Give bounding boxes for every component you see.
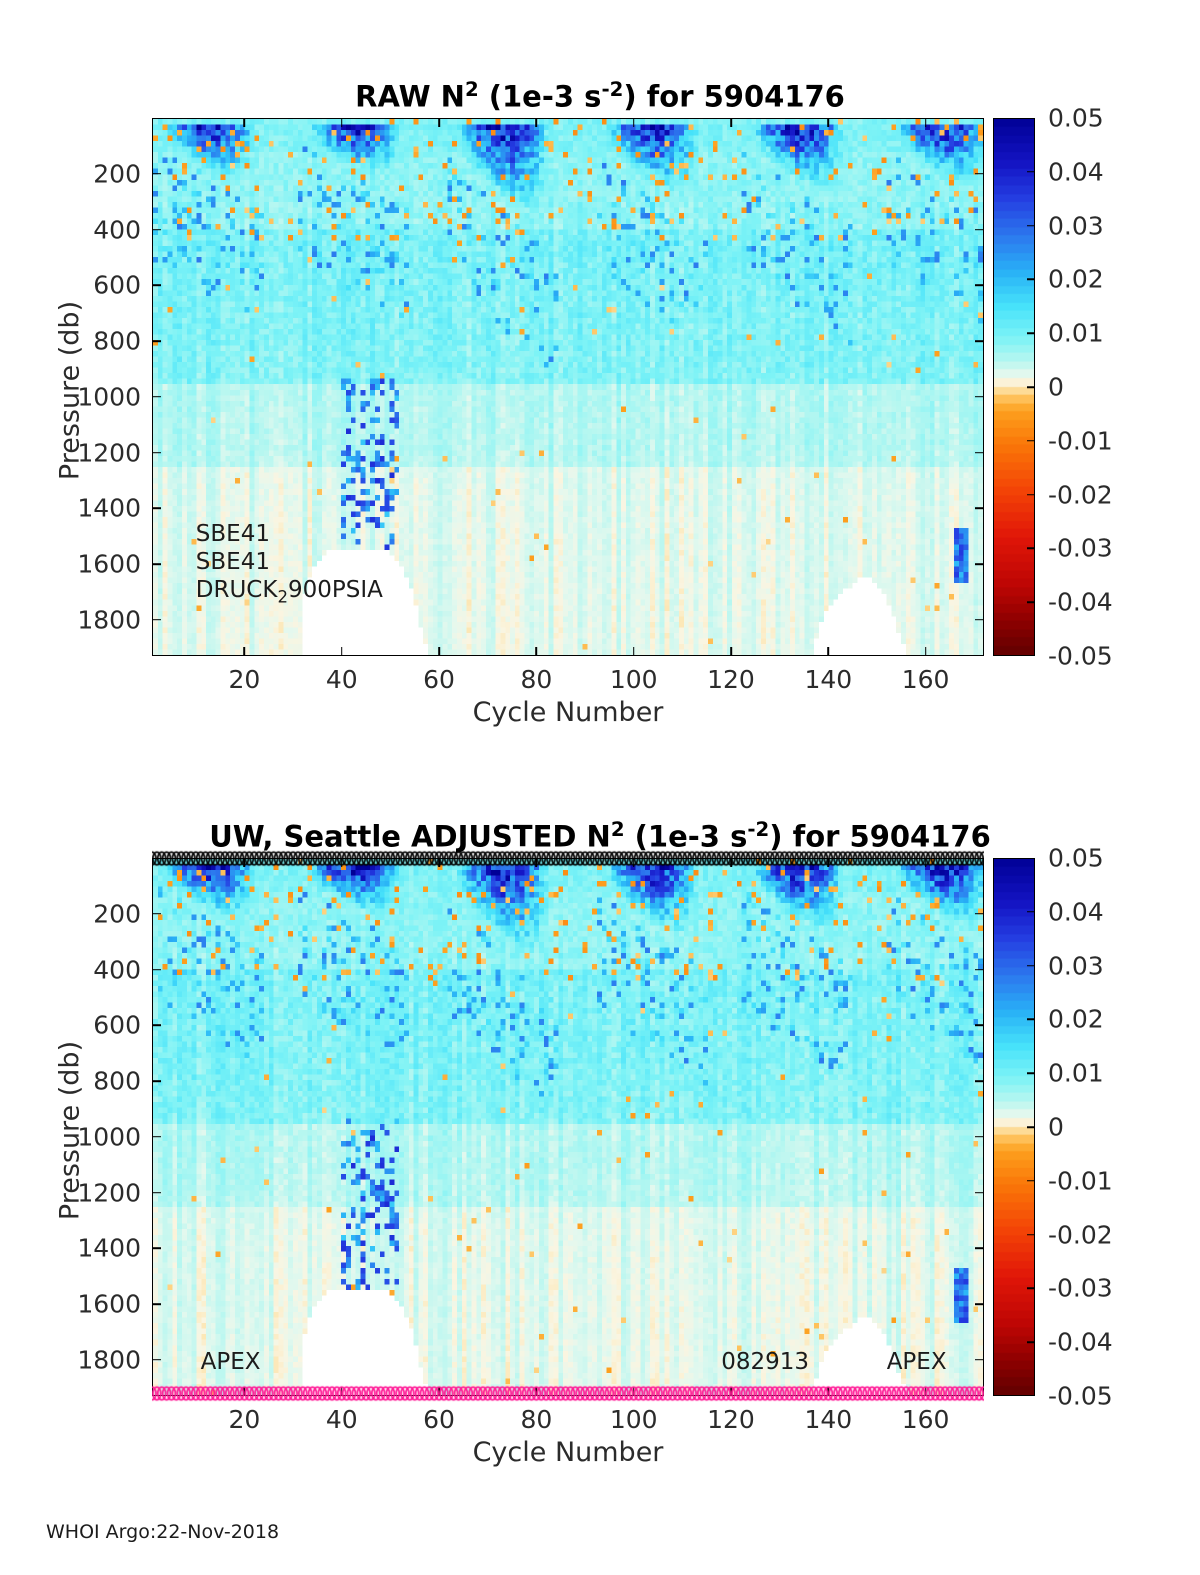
y-tick-mark xyxy=(975,619,984,621)
colorbar-tick-label: -0.01 xyxy=(1035,1166,1113,1195)
x-tick-label-20: 20 xyxy=(229,665,261,694)
x-tick-label-120: 120 xyxy=(707,1405,755,1434)
y-tick-mark xyxy=(975,396,984,398)
y-tick-label-1800: 1800 xyxy=(77,1345,141,1374)
y-tick-mark xyxy=(975,1359,984,1361)
panel-raw-xlabel: Cycle Number xyxy=(152,697,984,728)
panel-raw-axes[interactable] xyxy=(152,118,984,656)
colorbar-tick-mark xyxy=(1027,440,1035,442)
y-tick-label-600: 600 xyxy=(93,1011,141,1040)
colorbar-tick-mark xyxy=(1027,171,1035,173)
y-tick-label-200: 200 xyxy=(93,899,141,928)
x-tick-label-80: 80 xyxy=(520,1405,552,1434)
y-tick-mark xyxy=(152,1136,161,1138)
title-middle: (1e-3 s xyxy=(479,80,602,114)
colorbar-tick-label: -0.02 xyxy=(1035,480,1113,509)
colorbar-tick-mark xyxy=(1027,1341,1035,1343)
colorbar-tick-label: 0.01 xyxy=(1035,1059,1104,1088)
colorbar-tick-label: -0.02 xyxy=(1035,1220,1113,1249)
colorbar-tick-label: -0.04 xyxy=(1035,1328,1113,1357)
y-tick-label-1200: 1200 xyxy=(77,438,141,467)
title-exponent-units: -2 xyxy=(601,78,623,101)
colorbar-tick-label: -0.01 xyxy=(1035,426,1113,455)
x-tick-mark xyxy=(730,1387,732,1396)
panel-raw-title: RAW N2 (1e-3 s-2) for 5904176 xyxy=(0,78,1200,114)
x-tick-mark xyxy=(438,118,440,127)
y-tick-label-800: 800 xyxy=(93,327,141,356)
title-exponent-n2: 2 xyxy=(611,818,625,841)
x-tick-mark xyxy=(828,647,830,656)
x-tick-label-140: 140 xyxy=(804,665,852,694)
x-tick-label-40: 40 xyxy=(326,1405,358,1434)
figure-root: RAW N2 (1e-3 s-2) for 5904176 Pressure (… xyxy=(0,0,1200,1575)
y-tick-label-1400: 1400 xyxy=(77,494,141,523)
colorbar-tick-mark xyxy=(1027,1180,1035,1182)
y-tick-mark xyxy=(152,563,161,565)
x-tick-mark xyxy=(730,118,732,127)
y-tick-mark xyxy=(975,1024,984,1026)
title-prefix: UW, Seattle ADJUSTED N xyxy=(209,820,611,854)
y-tick-mark xyxy=(152,173,161,175)
x-tick-mark xyxy=(244,1387,246,1396)
sensor-ctd-1: SBE41 xyxy=(196,521,270,547)
y-tick-label-1600: 1600 xyxy=(77,550,141,579)
panel-raw-heatmap xyxy=(153,119,983,655)
y-tick-mark xyxy=(152,969,161,971)
x-tick-label-120: 120 xyxy=(707,665,755,694)
y-tick-label-1200: 1200 xyxy=(77,1178,141,1207)
colorbar-tick-mark xyxy=(1027,965,1035,967)
annotation-subscript: 2 xyxy=(277,588,288,607)
y-tick-mark xyxy=(152,913,161,915)
x-tick-mark xyxy=(438,647,440,656)
x-tick-mark xyxy=(244,858,246,867)
colorbar-tick-label: 0 xyxy=(1035,373,1064,402)
colorbar-tick-label: 0.02 xyxy=(1035,1005,1104,1034)
y-tick-mark xyxy=(152,1359,161,1361)
x-tick-mark xyxy=(438,858,440,867)
colorbar-tick-label: 0 xyxy=(1035,1113,1064,1142)
x-tick-mark xyxy=(536,858,538,867)
colorbar-tick-mark xyxy=(1027,1126,1035,1128)
colorbar-tick-mark xyxy=(1027,386,1035,388)
sensor-ctd-2: SBE41 xyxy=(196,549,270,575)
colorbar-tick-mark xyxy=(1027,1019,1035,1021)
panel-adjusted-heatmap xyxy=(153,859,983,1395)
y-tick-mark xyxy=(152,1303,161,1305)
y-tick-mark xyxy=(975,1192,984,1194)
x-tick-mark xyxy=(828,118,830,127)
colorbar-tick-mark xyxy=(1027,911,1035,913)
x-tick-mark xyxy=(438,1387,440,1396)
y-tick-mark xyxy=(152,452,161,454)
x-tick-mark xyxy=(341,1387,343,1396)
y-tick-mark xyxy=(975,284,984,286)
panel-adjusted-xlabel: Cycle Number xyxy=(152,1437,984,1468)
y-tick-mark xyxy=(975,1080,984,1082)
y-tick-label-1800: 1800 xyxy=(77,605,141,634)
x-tick-label-160: 160 xyxy=(902,665,950,694)
y-tick-mark xyxy=(975,1136,984,1138)
colorbar-tick-label: -0.03 xyxy=(1035,534,1113,563)
y-tick-label-1000: 1000 xyxy=(77,1122,141,1151)
x-tick-mark xyxy=(536,1387,538,1396)
y-tick-mark xyxy=(975,507,984,509)
y-tick-label-1400: 1400 xyxy=(77,1234,141,1263)
colorbar-tick-mark xyxy=(1027,494,1035,496)
y-tick-mark xyxy=(152,507,161,509)
x-tick-mark xyxy=(828,1387,830,1396)
y-tick-mark xyxy=(975,913,984,915)
colorbar-tick-mark xyxy=(1027,279,1035,281)
x-tick-label-160: 160 xyxy=(902,1405,950,1434)
x-tick-mark xyxy=(633,1387,635,1396)
y-tick-label-1600: 1600 xyxy=(77,1290,141,1319)
title-middle: (1e-3 s xyxy=(625,820,748,854)
platform-type-left: APEX xyxy=(201,1349,261,1375)
y-tick-mark xyxy=(975,452,984,454)
colorbar-tick-mark xyxy=(1027,1072,1035,1074)
colorbar-tick-label: 0.04 xyxy=(1035,157,1104,186)
y-tick-label-800: 800 xyxy=(93,1067,141,1096)
sensor-pressure: DRUCK2900PSIA xyxy=(196,577,383,607)
x-tick-mark xyxy=(244,118,246,127)
y-tick-mark xyxy=(975,1247,984,1249)
deployment-code: 082913 xyxy=(721,1349,809,1375)
colorbar-tick-label: 0.03 xyxy=(1035,211,1104,240)
y-tick-mark xyxy=(975,340,984,342)
x-tick-label-60: 60 xyxy=(423,1405,455,1434)
x-tick-mark xyxy=(730,858,732,867)
x-tick-mark xyxy=(341,647,343,656)
y-tick-mark xyxy=(152,1192,161,1194)
colorbar-tick-label: -0.03 xyxy=(1035,1274,1113,1303)
colorbar-tick-label: -0.05 xyxy=(1035,1382,1113,1411)
x-tick-mark xyxy=(925,858,927,867)
y-tick-mark xyxy=(152,396,161,398)
colorbar-tick-label: 0.05 xyxy=(1035,844,1104,873)
x-tick-mark xyxy=(925,118,927,127)
colorbar-tick-mark xyxy=(1027,1288,1035,1290)
title-prefix: RAW N xyxy=(355,80,465,114)
y-tick-mark xyxy=(975,229,984,231)
colorbar-tick-label: 0.02 xyxy=(1035,265,1104,294)
panel-adjusted-colorbar[interactable]: 0.050.040.030.020.010-0.01-0.02-0.03-0.0… xyxy=(993,858,1035,1396)
colorbar-tick-mark xyxy=(1027,601,1035,603)
colorbar-tick-mark xyxy=(1027,548,1035,550)
annotation-text-suffix: 900PSIA xyxy=(288,577,383,603)
x-tick-label-100: 100 xyxy=(610,1405,658,1434)
title-suffix: ) for 5904176 xyxy=(769,820,991,854)
colorbar-tick-mark xyxy=(1027,225,1035,227)
y-tick-label-400: 400 xyxy=(93,215,141,244)
x-tick-mark xyxy=(730,647,732,656)
colorbar-tick-label: 0.03 xyxy=(1035,951,1104,980)
x-tick-label-20: 20 xyxy=(229,1405,261,1434)
y-tick-mark xyxy=(975,173,984,175)
x-tick-mark xyxy=(341,858,343,867)
colorbar-tick-mark xyxy=(1027,332,1035,334)
panel-adjusted-axes[interactable] xyxy=(152,858,984,1396)
y-tick-mark xyxy=(152,1247,161,1249)
x-tick-label-100: 100 xyxy=(610,665,658,694)
x-tick-mark xyxy=(341,118,343,127)
x-tick-mark xyxy=(828,858,830,867)
title-exponent-units: -2 xyxy=(747,818,769,841)
panel-adjusted-title: UW, Seattle ADJUSTED N2 (1e-3 s-2) for 5… xyxy=(0,818,1200,854)
y-tick-mark xyxy=(152,1024,161,1026)
title-suffix: ) for 5904176 xyxy=(623,80,845,114)
x-tick-mark xyxy=(925,647,927,656)
colorbar-tick-label: 0.04 xyxy=(1035,897,1104,926)
y-tick-label-200: 200 xyxy=(93,159,141,188)
x-tick-mark xyxy=(536,118,538,127)
x-tick-mark xyxy=(633,118,635,127)
x-tick-label-80: 80 xyxy=(520,665,552,694)
figure-footer: WHOI Argo:22-Nov-2018 xyxy=(46,1521,279,1543)
x-tick-mark xyxy=(244,647,246,656)
y-tick-mark xyxy=(975,969,984,971)
annotation-text-prefix: DRUCK xyxy=(196,577,278,603)
y-tick-mark xyxy=(152,1080,161,1082)
y-tick-mark xyxy=(152,284,161,286)
panel-raw-colorbar[interactable]: 0.050.040.030.020.010-0.01-0.02-0.03-0.0… xyxy=(993,118,1035,656)
y-tick-label-600: 600 xyxy=(93,271,141,300)
y-tick-label-1000: 1000 xyxy=(77,382,141,411)
y-tick-label-400: 400 xyxy=(93,955,141,984)
colorbar-tick-mark xyxy=(1027,1234,1035,1236)
colorbar-tick-label: -0.04 xyxy=(1035,588,1113,617)
platform-type-right: APEX xyxy=(887,1349,947,1375)
y-tick-mark xyxy=(152,229,161,231)
x-tick-mark xyxy=(925,1387,927,1396)
y-tick-mark xyxy=(152,340,161,342)
x-tick-label-60: 60 xyxy=(423,665,455,694)
x-tick-mark xyxy=(633,858,635,867)
title-exponent-n2: 2 xyxy=(465,78,479,101)
x-tick-mark xyxy=(536,647,538,656)
y-tick-mark xyxy=(152,619,161,621)
y-tick-mark xyxy=(975,563,984,565)
x-tick-label-40: 40 xyxy=(326,665,358,694)
y-tick-mark xyxy=(975,1303,984,1305)
colorbar-tick-label: 0.01 xyxy=(1035,319,1104,348)
x-tick-mark xyxy=(633,647,635,656)
x-tick-label-140: 140 xyxy=(804,1405,852,1434)
colorbar-tick-label: -0.05 xyxy=(1035,642,1113,671)
colorbar-tick-label: 0.05 xyxy=(1035,104,1104,133)
